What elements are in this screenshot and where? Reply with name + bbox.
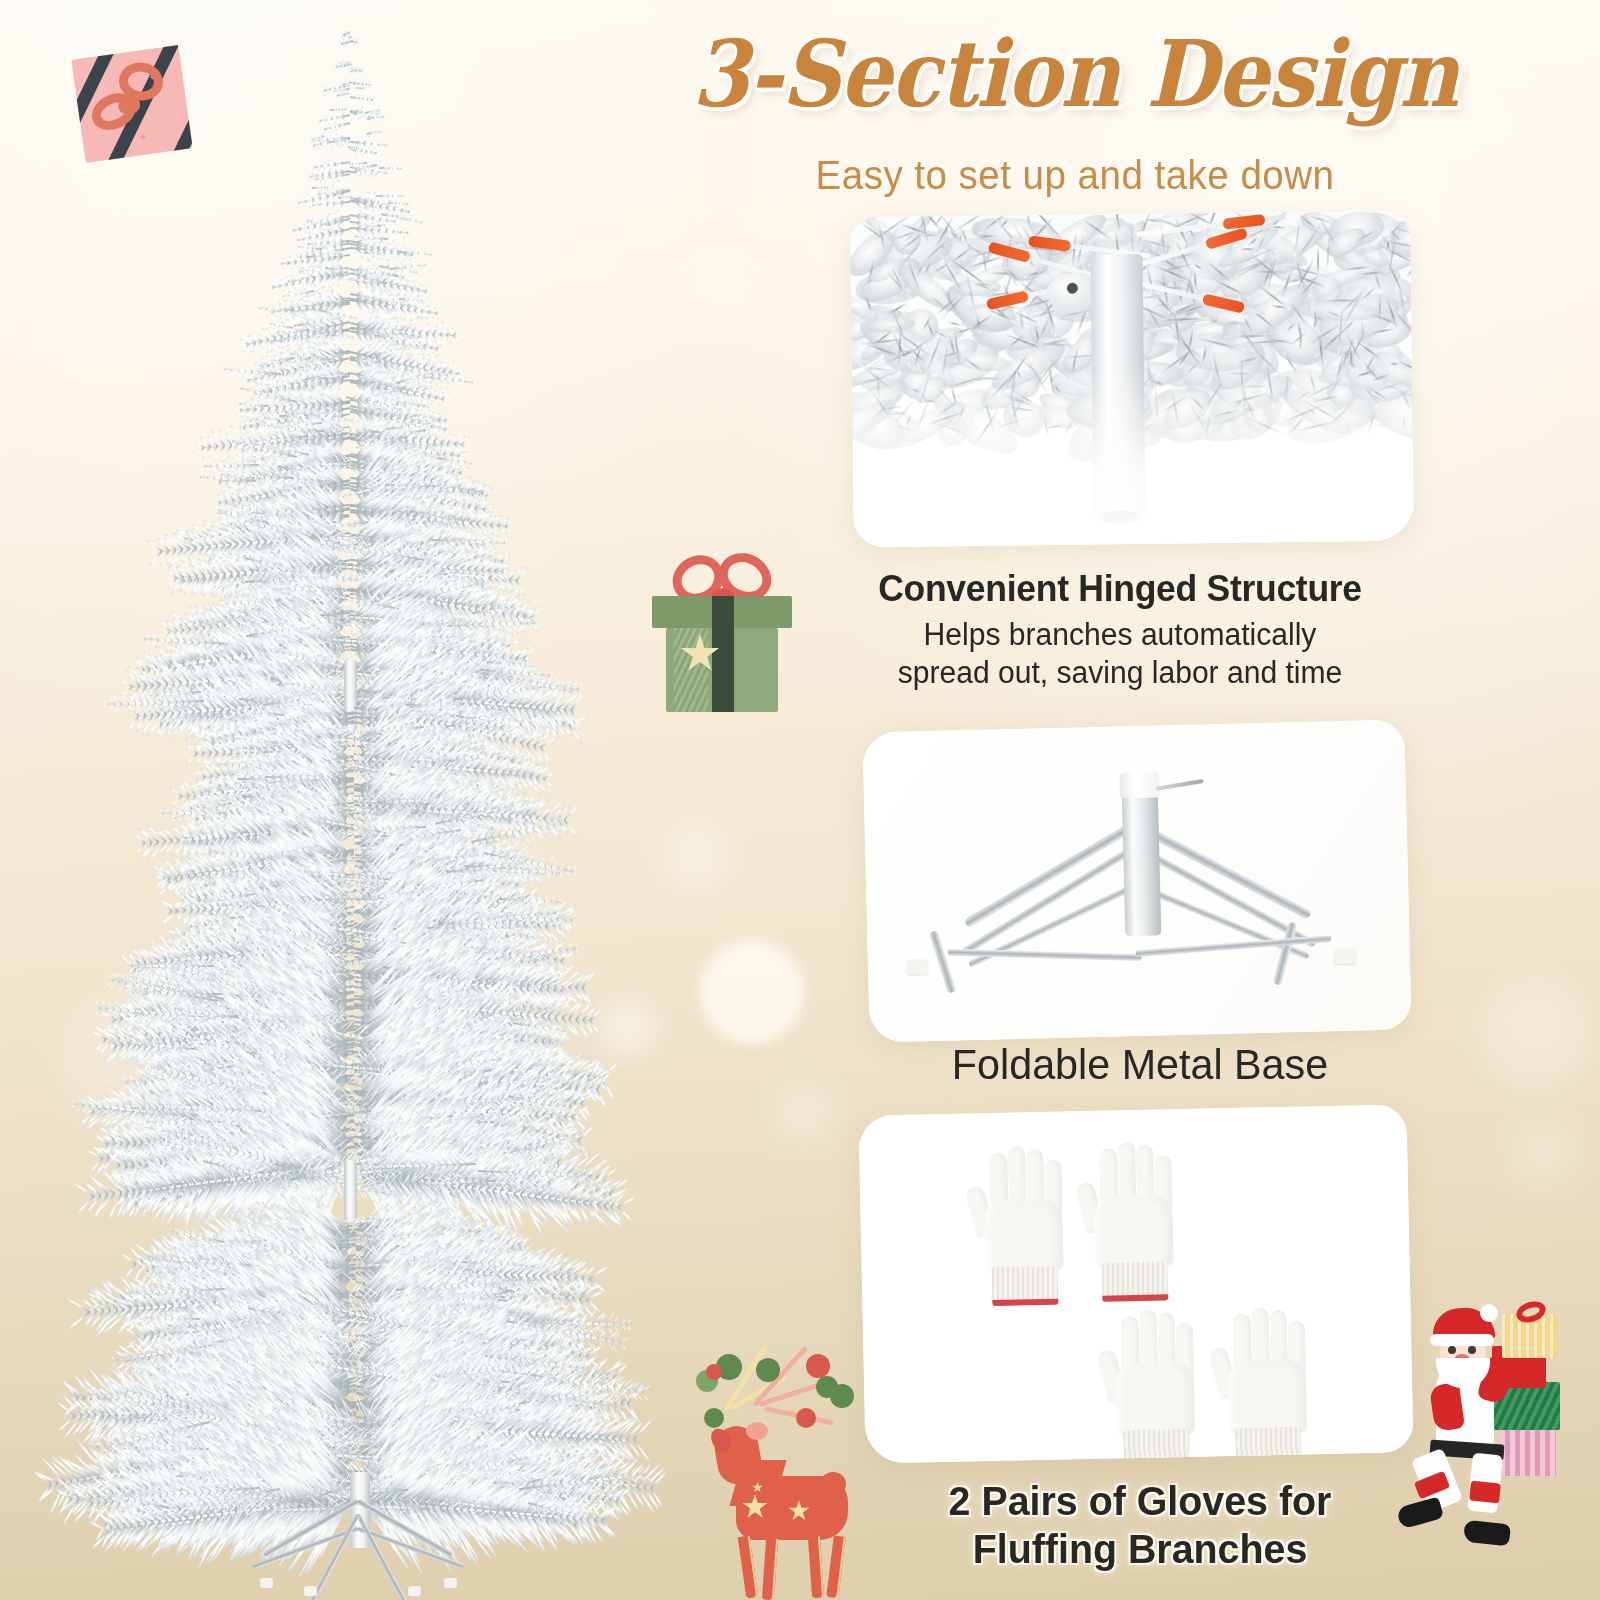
tinsel-needle [975,235,996,237]
bokeh-circle [1508,1118,1578,1188]
gloves-heading-line1: 2 Pairs of Gloves for [949,1478,1332,1524]
tree-branch [338,196,351,199]
tree-branch [390,264,426,270]
stand-leg [263,1498,360,1557]
hinged-structure-photo-card [850,211,1414,548]
antler-berry [756,1358,780,1382]
stand-leg [357,1498,454,1557]
bokeh-circle [676,250,766,340]
tree-branch [312,187,327,189]
bokeh-circle [772,1082,834,1144]
antler-berry [796,1408,816,1428]
reindeer-leg [808,1536,824,1599]
antler-berry [830,1384,854,1408]
base-leg-bar [964,819,1142,929]
glove-red-band [1236,1460,1301,1464]
glove-palm [1228,1359,1307,1434]
stand-foot-cap [408,1586,421,1596]
tinsel-needle [946,225,948,236]
glove-red-band [1103,1294,1168,1301]
reindeer-tail [820,1472,846,1496]
reindeer-leg [738,1535,759,1598]
tree-branch [342,41,350,45]
santa-with-gifts-icon [1396,1300,1596,1590]
bokeh-circle [700,940,804,1044]
pink-gift-box-icon: ✦ ✦ ✦ [71,45,192,163]
reindeer-icon [660,1310,880,1590]
green-gift-box-icon [652,560,792,710]
tree-branch [329,141,349,143]
santa-eye [1468,1346,1476,1354]
tree-branch [367,116,383,120]
headline-block: 3-Section Design Easy to set up and take… [640,26,1510,199]
santa-hat-pompom [1480,1304,1498,1322]
page-subtitle: Easy to set up and take down [666,152,1484,199]
tree-branch [321,114,351,122]
tree-branch [357,87,364,89]
antler-berry [704,1408,724,1428]
hinged-structure-heading: Convenient Hinged Structure [774,568,1465,610]
tree-branch [330,109,345,111]
base-foot-cap [906,959,928,975]
gift-ribbon [712,596,734,712]
stand-foot-cap [304,1586,317,1596]
foldable-base-photo-card [862,719,1411,1042]
base-foot-cap [1334,949,1356,965]
antler-berry [706,1364,722,1380]
santa-boot-right [1463,1520,1511,1547]
reindeer-leg [826,1535,845,1598]
stand-foot-cap [444,1578,457,1588]
reindeer-leg [762,1538,778,1600]
foldable-base-caption: Foldable Metal Base [830,1040,1450,1089]
tree-bottom-section [86,1218,626,1508]
infographic-canvas: 3-Section Design Easy to set up and take… [0,0,1600,1600]
gloves-caption: 2 Pairs of Gloves for Fluffing Branches [840,1478,1440,1574]
glove-palm [1094,1194,1173,1269]
base-leg-bar [929,930,957,994]
tree-branch [337,93,348,97]
glove-cuff [1235,1427,1301,1463]
bokeh-circle [660,820,732,892]
reindeer-nose [746,1422,768,1440]
glove [1099,1309,1200,1464]
santa-cuff-right [1469,1480,1501,1503]
base-hub-cap [1119,771,1160,798]
hinged-hub-image [850,211,1414,548]
glove-red-band [993,1299,1058,1306]
tree-middle-section [104,700,604,1180]
glove-cuff [1102,1262,1168,1298]
hinged-structure-desc-line1: Helps branches automatically [924,617,1317,652]
santa-boot-left [1396,1496,1444,1529]
glove-red-band [1124,1462,1189,1464]
glove [967,1145,1068,1310]
antler-berry [806,1354,830,1378]
foldable-base-image [862,719,1411,1042]
hinge-screw [1067,283,1078,294]
gloves-image [858,1104,1413,1463]
tree-branch [316,161,351,168]
tree-branch [351,69,357,72]
glove-palm [1116,1362,1195,1437]
tree-branch [350,227,407,234]
hinged-structure-desc-line2: spread out, saving labor and time [898,655,1343,690]
santa-hat-trim [1430,1334,1494,1346]
tree-branch [342,82,351,86]
gloves-photo-card [858,1104,1413,1463]
tree-branch [367,225,381,227]
base-locking-pin [1156,779,1204,791]
santa-arm-left [1429,1382,1465,1432]
gloves-heading-line2: Fluffing Branches [973,1526,1308,1572]
gift-texture [674,628,708,712]
glove-palm [985,1199,1064,1274]
product-sections-column [0,0,660,1600]
glove-cuff [1124,1429,1190,1463]
stand-foot-cap [260,1578,273,1588]
tree-pole-lower [344,1160,357,1222]
tree-branch [344,64,351,67]
foldable-base-heading: Foldable Metal Base [842,1040,1437,1089]
page-title: 3-Section Design [640,20,1510,128]
photo-fade [852,361,1414,548]
hinged-structure-caption: Convenient Hinged Structure Helps branch… [760,568,1480,692]
santa-eye [1448,1346,1456,1354]
tree-branch [347,32,350,34]
glove [1077,1141,1178,1306]
tree-branch [367,131,380,135]
base-hub [1122,783,1162,936]
glove-cuff [992,1266,1058,1302]
tree-branch [350,40,356,43]
glove [1211,1306,1312,1463]
tree-stand [246,1482,476,1592]
tree-top-section [120,14,580,714]
bokeh-circle [1480,980,1590,1090]
tree-branch [350,96,372,101]
